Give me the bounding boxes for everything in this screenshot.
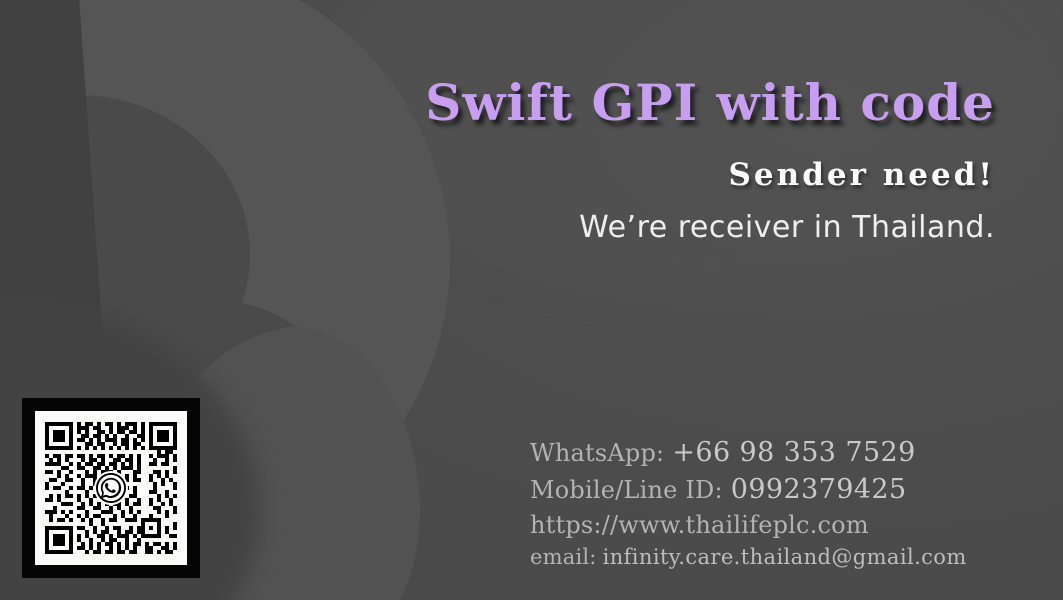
heading-group: Swift GPI with code Sender need! We’re r… [0, 78, 995, 243]
whatsapp-qr-code[interactable] [45, 422, 177, 554]
whatsapp-logo-icon [96, 473, 126, 503]
contact-details: WhatsApp: +66 98 353 7529 Mobile/Line ID… [530, 437, 967, 569]
qr-code-paper [35, 411, 187, 565]
page-subtitle: Sender need! [0, 160, 995, 191]
website-link[interactable]: https://www.thailifeplc.com [530, 511, 869, 539]
contact-row-website[interactable]: https://www.thailifeplc.com [530, 511, 967, 539]
whatsapp-logo-badge [94, 471, 128, 505]
business-card: Swift GPI with code Sender need! We’re r… [0, 0, 1063, 600]
whatsapp-label: WhatsApp: [530, 439, 664, 467]
whatsapp-number[interactable]: +66 98 353 7529 [672, 437, 915, 468]
mobile-line-id-number[interactable]: 0992379425 [731, 474, 907, 505]
mobile-line-id-label: Mobile/Line ID: [530, 476, 723, 504]
email-label: email: [530, 545, 597, 569]
page-note: We’re receiver in Thailand. [0, 213, 995, 243]
contact-row-whatsapp: WhatsApp: +66 98 353 7529 [530, 437, 967, 468]
contact-row-mobile: Mobile/Line ID: 0992379425 [530, 474, 967, 505]
email-address[interactable]: infinity.care.thailand@gmail.com [603, 545, 967, 569]
qr-code-frame [22, 398, 200, 578]
contact-row-email: email: infinity.care.thailand@gmail.com [530, 545, 967, 569]
page-title: Swift GPI with code [0, 78, 995, 128]
